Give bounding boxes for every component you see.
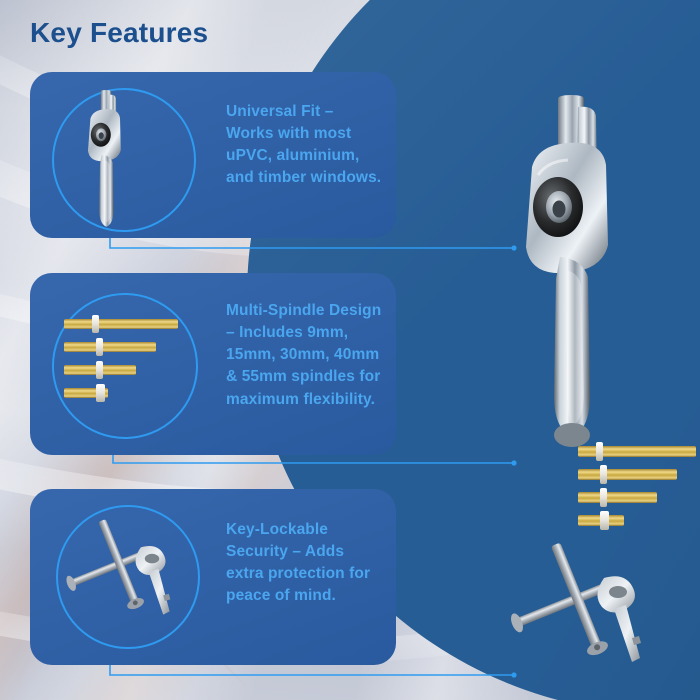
hero-window-handle-image — [516, 95, 636, 455]
feature-art-1 — [38, 72, 208, 238]
feature-art-2 — [38, 273, 208, 455]
spindles-icon — [38, 273, 208, 455]
hero-spindles-image — [578, 440, 700, 540]
page-title: Key Features — [30, 17, 208, 49]
feature-text-3: Key-Lockable Security – Adds extra prote… — [226, 519, 382, 608]
feature-text-1: Universal Fit – Works with most uPVC, al… — [226, 101, 382, 190]
feature-card-multi-spindle[interactable]: Multi-Spindle Design – Includes 9mm, 15m… — [30, 273, 396, 455]
feature-card-key-lockable[interactable]: Key-Lockable Security – Adds extra prote… — [30, 489, 396, 665]
screws-and-key-icon — [38, 489, 208, 665]
feature-card-universal-fit[interactable]: Universal Fit – Works with most uPVC, al… — [30, 72, 396, 238]
infographic-stage: Key Features — [0, 0, 700, 700]
hero-screws-and-key-image — [508, 540, 668, 670]
window-handle-icon — [38, 72, 208, 238]
feature-art-3 — [38, 489, 208, 665]
feature-text-2: Multi-Spindle Design – Includes 9mm, 15m… — [226, 300, 382, 411]
